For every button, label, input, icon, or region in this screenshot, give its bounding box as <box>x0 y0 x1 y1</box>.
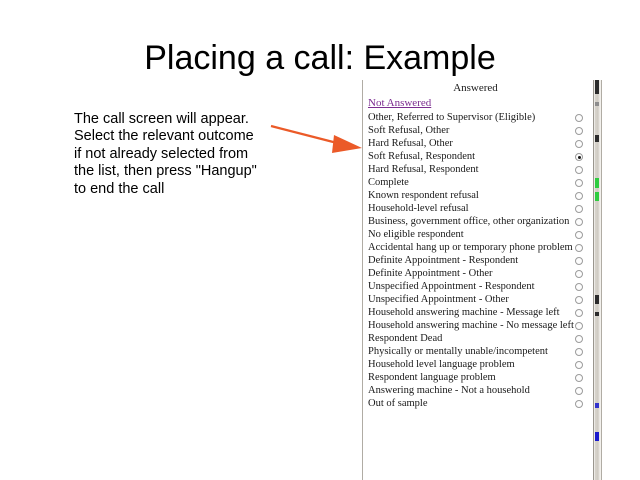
scrollbar-mark <box>595 432 599 441</box>
outcome-radio[interactable] <box>575 179 583 187</box>
outcome-radio[interactable] <box>575 296 583 304</box>
outcome-radio[interactable] <box>575 218 583 226</box>
outcome-radio[interactable] <box>575 205 583 213</box>
outcome-label: Soft Refusal, Other <box>368 124 449 137</box>
outcome-row[interactable]: Complete <box>363 176 595 189</box>
outcome-row[interactable]: No eligible respondent <box>363 228 595 241</box>
outcome-row[interactable]: Household-level refusal <box>363 202 595 215</box>
outcome-radio[interactable] <box>575 322 583 330</box>
page-title: Placing a call: Example <box>0 38 640 78</box>
caption-line: if not already selected from <box>74 146 282 163</box>
outcome-row[interactable]: Accidental hang up or temporary phone pr… <box>363 241 595 254</box>
outcome-label: Household answering machine - Message le… <box>368 306 560 319</box>
outcome-row[interactable]: Household level language problem <box>363 358 595 371</box>
outcome-label: Household-level refusal <box>368 202 469 215</box>
outcome-radio[interactable] <box>575 335 583 343</box>
call-screen-panel: Answered Not Answered Other, Referred to… <box>362 80 602 480</box>
outcome-row[interactable]: Business, government office, other organ… <box>363 215 595 228</box>
scrollbar-mark <box>595 192 599 201</box>
outcome-radio[interactable] <box>575 140 583 148</box>
outcome-row[interactable]: Definite Appointment - Respondent <box>363 254 595 267</box>
scrollbar-mark <box>595 80 599 94</box>
outcome-radio-list: Other, Referred to Supervisor (Eligible)… <box>363 111 595 410</box>
outcome-row[interactable]: Known respondent refusal <box>363 189 595 202</box>
outcome-label: Hard Refusal, Respondent <box>368 163 479 176</box>
outcome-label: Definite Appointment - Respondent <box>368 254 518 267</box>
outcome-row[interactable]: Household answering machine - No message… <box>363 319 595 332</box>
outcome-label: Respondent language problem <box>368 371 496 384</box>
outcome-row[interactable]: Hard Refusal, Other <box>363 137 595 150</box>
outcome-radio[interactable] <box>575 231 583 239</box>
outcome-row[interactable]: Unspecified Appointment - Other <box>363 293 595 306</box>
outcome-row[interactable]: Hard Refusal, Respondent <box>363 163 595 176</box>
outcome-radio[interactable] <box>575 270 583 278</box>
outcome-label: Out of sample <box>368 397 428 410</box>
outcome-label: Household level language problem <box>368 358 515 371</box>
outcome-label: Household answering machine - No message… <box>368 319 574 332</box>
scrollbar-mark <box>595 403 599 408</box>
pointer-arrow-icon <box>268 122 364 156</box>
outcome-row[interactable]: Soft Refusal, Other <box>363 124 595 137</box>
outcome-label: Complete <box>368 176 409 189</box>
outcome-radio[interactable] <box>575 127 583 135</box>
outcome-label: Accidental hang up or temporary phone pr… <box>368 241 573 254</box>
caption-line: Select the relevant outcome <box>74 128 282 145</box>
outcome-row[interactable]: Answering machine - Not a household <box>363 384 595 397</box>
scrollbar-mark <box>595 312 599 316</box>
outcome-row[interactable]: Out of sample <box>363 397 595 410</box>
outcome-radio[interactable] <box>575 244 583 252</box>
outcome-row[interactable]: Respondent language problem <box>363 371 595 384</box>
outcome-row[interactable]: Other, Referred to Supervisor (Eligible) <box>363 111 595 124</box>
outcome-label: Soft Refusal, Respondent <box>368 150 475 163</box>
outcome-label: Unspecified Appointment - Other <box>368 293 509 306</box>
outcome-radio[interactable] <box>575 153 583 161</box>
scrollbar-mark <box>595 102 599 106</box>
outcome-label: Other, Referred to Supervisor (Eligible) <box>368 111 535 124</box>
outcome-row[interactable]: Unspecified Appointment - Respondent <box>363 280 595 293</box>
not-answered-link[interactable]: Not Answered <box>368 97 431 109</box>
outcome-radio[interactable] <box>575 387 583 395</box>
outcome-radio[interactable] <box>575 348 583 356</box>
outcome-radio[interactable] <box>575 283 583 291</box>
outcome-label: No eligible respondent <box>368 228 464 241</box>
outcome-radio[interactable] <box>575 192 583 200</box>
outcome-label: Physically or mentally unable/incompeten… <box>368 345 548 358</box>
scrollbar-mark <box>595 178 599 188</box>
vertical-scrollbar[interactable] <box>593 80 601 480</box>
outcome-row[interactable]: Soft Refusal, Respondent <box>363 150 595 163</box>
caption-line: to end the call <box>74 181 282 198</box>
answered-heading: Answered <box>363 82 588 94</box>
outcome-radio[interactable] <box>575 257 583 265</box>
outcome-row[interactable]: Respondent Dead <box>363 332 595 345</box>
outcome-label: Business, government office, other organ… <box>368 215 569 228</box>
outcome-label: Respondent Dead <box>368 332 442 345</box>
caption-line: the list, then press "Hangup" <box>74 163 282 180</box>
outcome-label: Hard Refusal, Other <box>368 137 453 150</box>
caption-text: The call screen will appear. Select the … <box>74 111 282 198</box>
slide-canvas: Placing a call: Example The call screen … <box>0 0 640 480</box>
outcome-label: Known respondent refusal <box>368 189 479 202</box>
scrollbar-mark <box>595 135 599 142</box>
outcome-row[interactable]: Physically or mentally unable/incompeten… <box>363 345 595 358</box>
outcome-radio[interactable] <box>575 361 583 369</box>
outcome-radio[interactable] <box>575 400 583 408</box>
outcome-radio[interactable] <box>575 114 583 122</box>
outcome-row[interactable]: Definite Appointment - Other <box>363 267 595 280</box>
outcome-row[interactable]: Household answering machine - Message le… <box>363 306 595 319</box>
outcome-label: Definite Appointment - Other <box>368 267 493 280</box>
caption-line: The call screen will appear. <box>74 111 282 128</box>
scrollbar-mark <box>595 295 599 304</box>
outcome-radio[interactable] <box>575 374 583 382</box>
outcome-label: Answering machine - Not a household <box>368 384 530 397</box>
outcome-radio[interactable] <box>575 166 583 174</box>
outcome-radio[interactable] <box>575 309 583 317</box>
outcome-label: Unspecified Appointment - Respondent <box>368 280 535 293</box>
